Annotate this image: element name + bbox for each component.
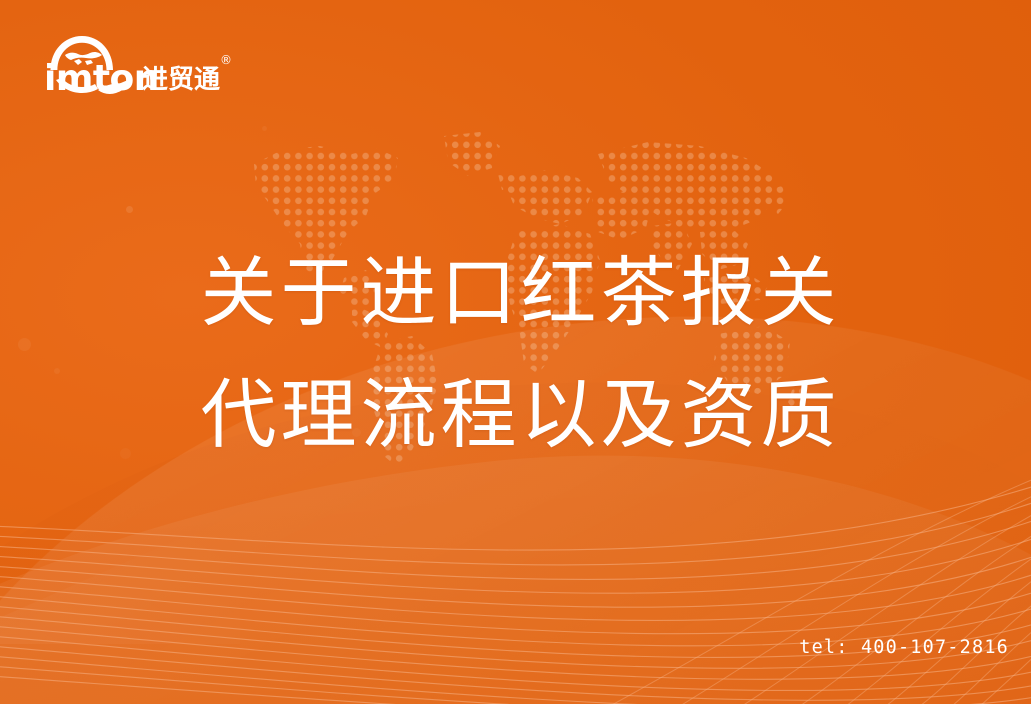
page-title: 关于进口红茶报关 代理流程以及资质: [0, 232, 1031, 476]
fine-arc-line-fan: [0, 474, 1031, 704]
bokeh-dot: [126, 206, 133, 213]
title-line-2: 代理流程以及资质: [0, 354, 1031, 476]
bokeh-dot: [262, 126, 267, 131]
title-line-1: 关于进口红茶报关: [0, 232, 1031, 354]
logo-chinese-wordmark: 进贸通: [142, 65, 220, 95]
registered-trademark-icon: ®: [220, 53, 232, 67]
contact-telephone: tel: 400-107-2816: [799, 637, 1009, 658]
brand-logo[interactable]: imton 进贸通 ®: [38, 28, 238, 100]
presentation-cover-slide: imton 进贸通 ® 关于进口红茶报关 代理流程以及资质 tel: 400-1…: [0, 0, 1031, 704]
